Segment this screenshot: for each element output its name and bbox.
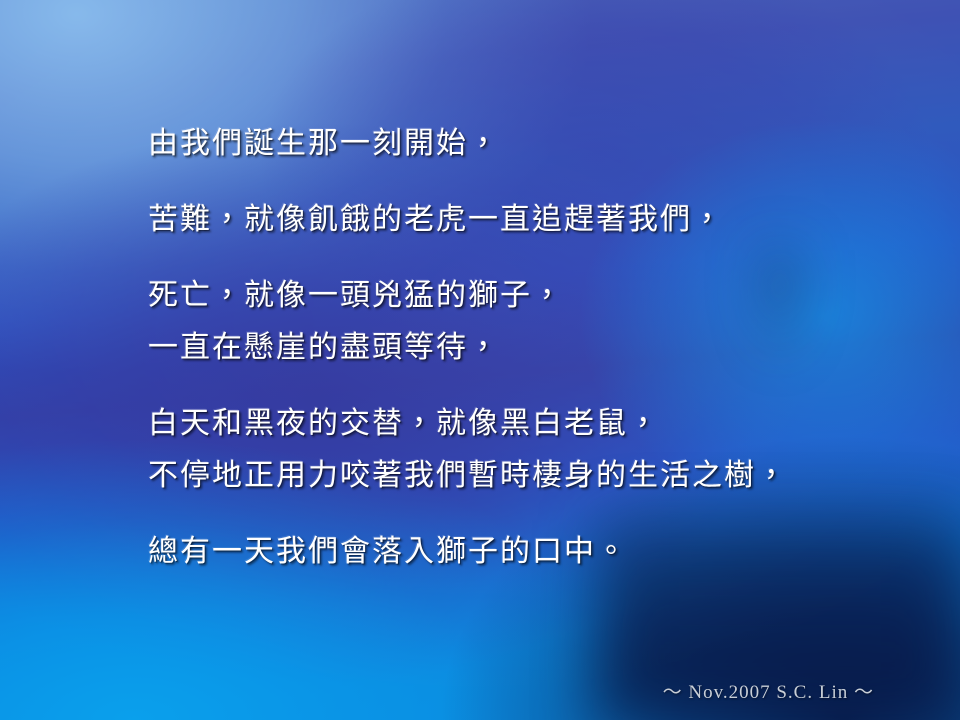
poem-line: 苦難，就像飢餓的老虎一直追趕著我們， (148, 194, 938, 246)
signature-credit: 〜 Nov.2007 S.C. Lin 〜 (663, 677, 874, 704)
poem-stanza: 總有一天我們會落入獅子的口中。 (148, 526, 938, 578)
poem-line: 總有一天我們會落入獅子的口中。 (148, 526, 938, 578)
poem-line: 白天和黑夜的交替，就像黑白老鼠， (148, 398, 938, 450)
poem-line: 一直在懸崖的盡頭等待， (148, 322, 938, 374)
poem-stanza: 死亡，就像一頭兇猛的獅子， 一直在懸崖的盡頭等待， (148, 270, 938, 374)
poem-stanza: 苦難，就像飢餓的老虎一直追趕著我們， (148, 194, 938, 246)
presentation-slide: 由我們誕生那一刻開始， 苦難，就像飢餓的老虎一直追趕著我們， 死亡，就像一頭兇猛… (0, 0, 960, 720)
poem-stanza: 由我們誕生那一刻開始， (148, 118, 938, 170)
poem-body: 由我們誕生那一刻開始， 苦難，就像飢餓的老虎一直追趕著我們， 死亡，就像一頭兇猛… (148, 118, 938, 602)
poem-line: 由我們誕生那一刻開始， (148, 118, 938, 170)
poem-line: 不停地正用力咬著我們暫時棲身的生活之樹， (148, 450, 938, 502)
poem-line: 死亡，就像一頭兇猛的獅子， (148, 270, 938, 322)
poem-stanza: 白天和黑夜的交替，就像黑白老鼠， 不停地正用力咬著我們暫時棲身的生活之樹， (148, 398, 938, 502)
